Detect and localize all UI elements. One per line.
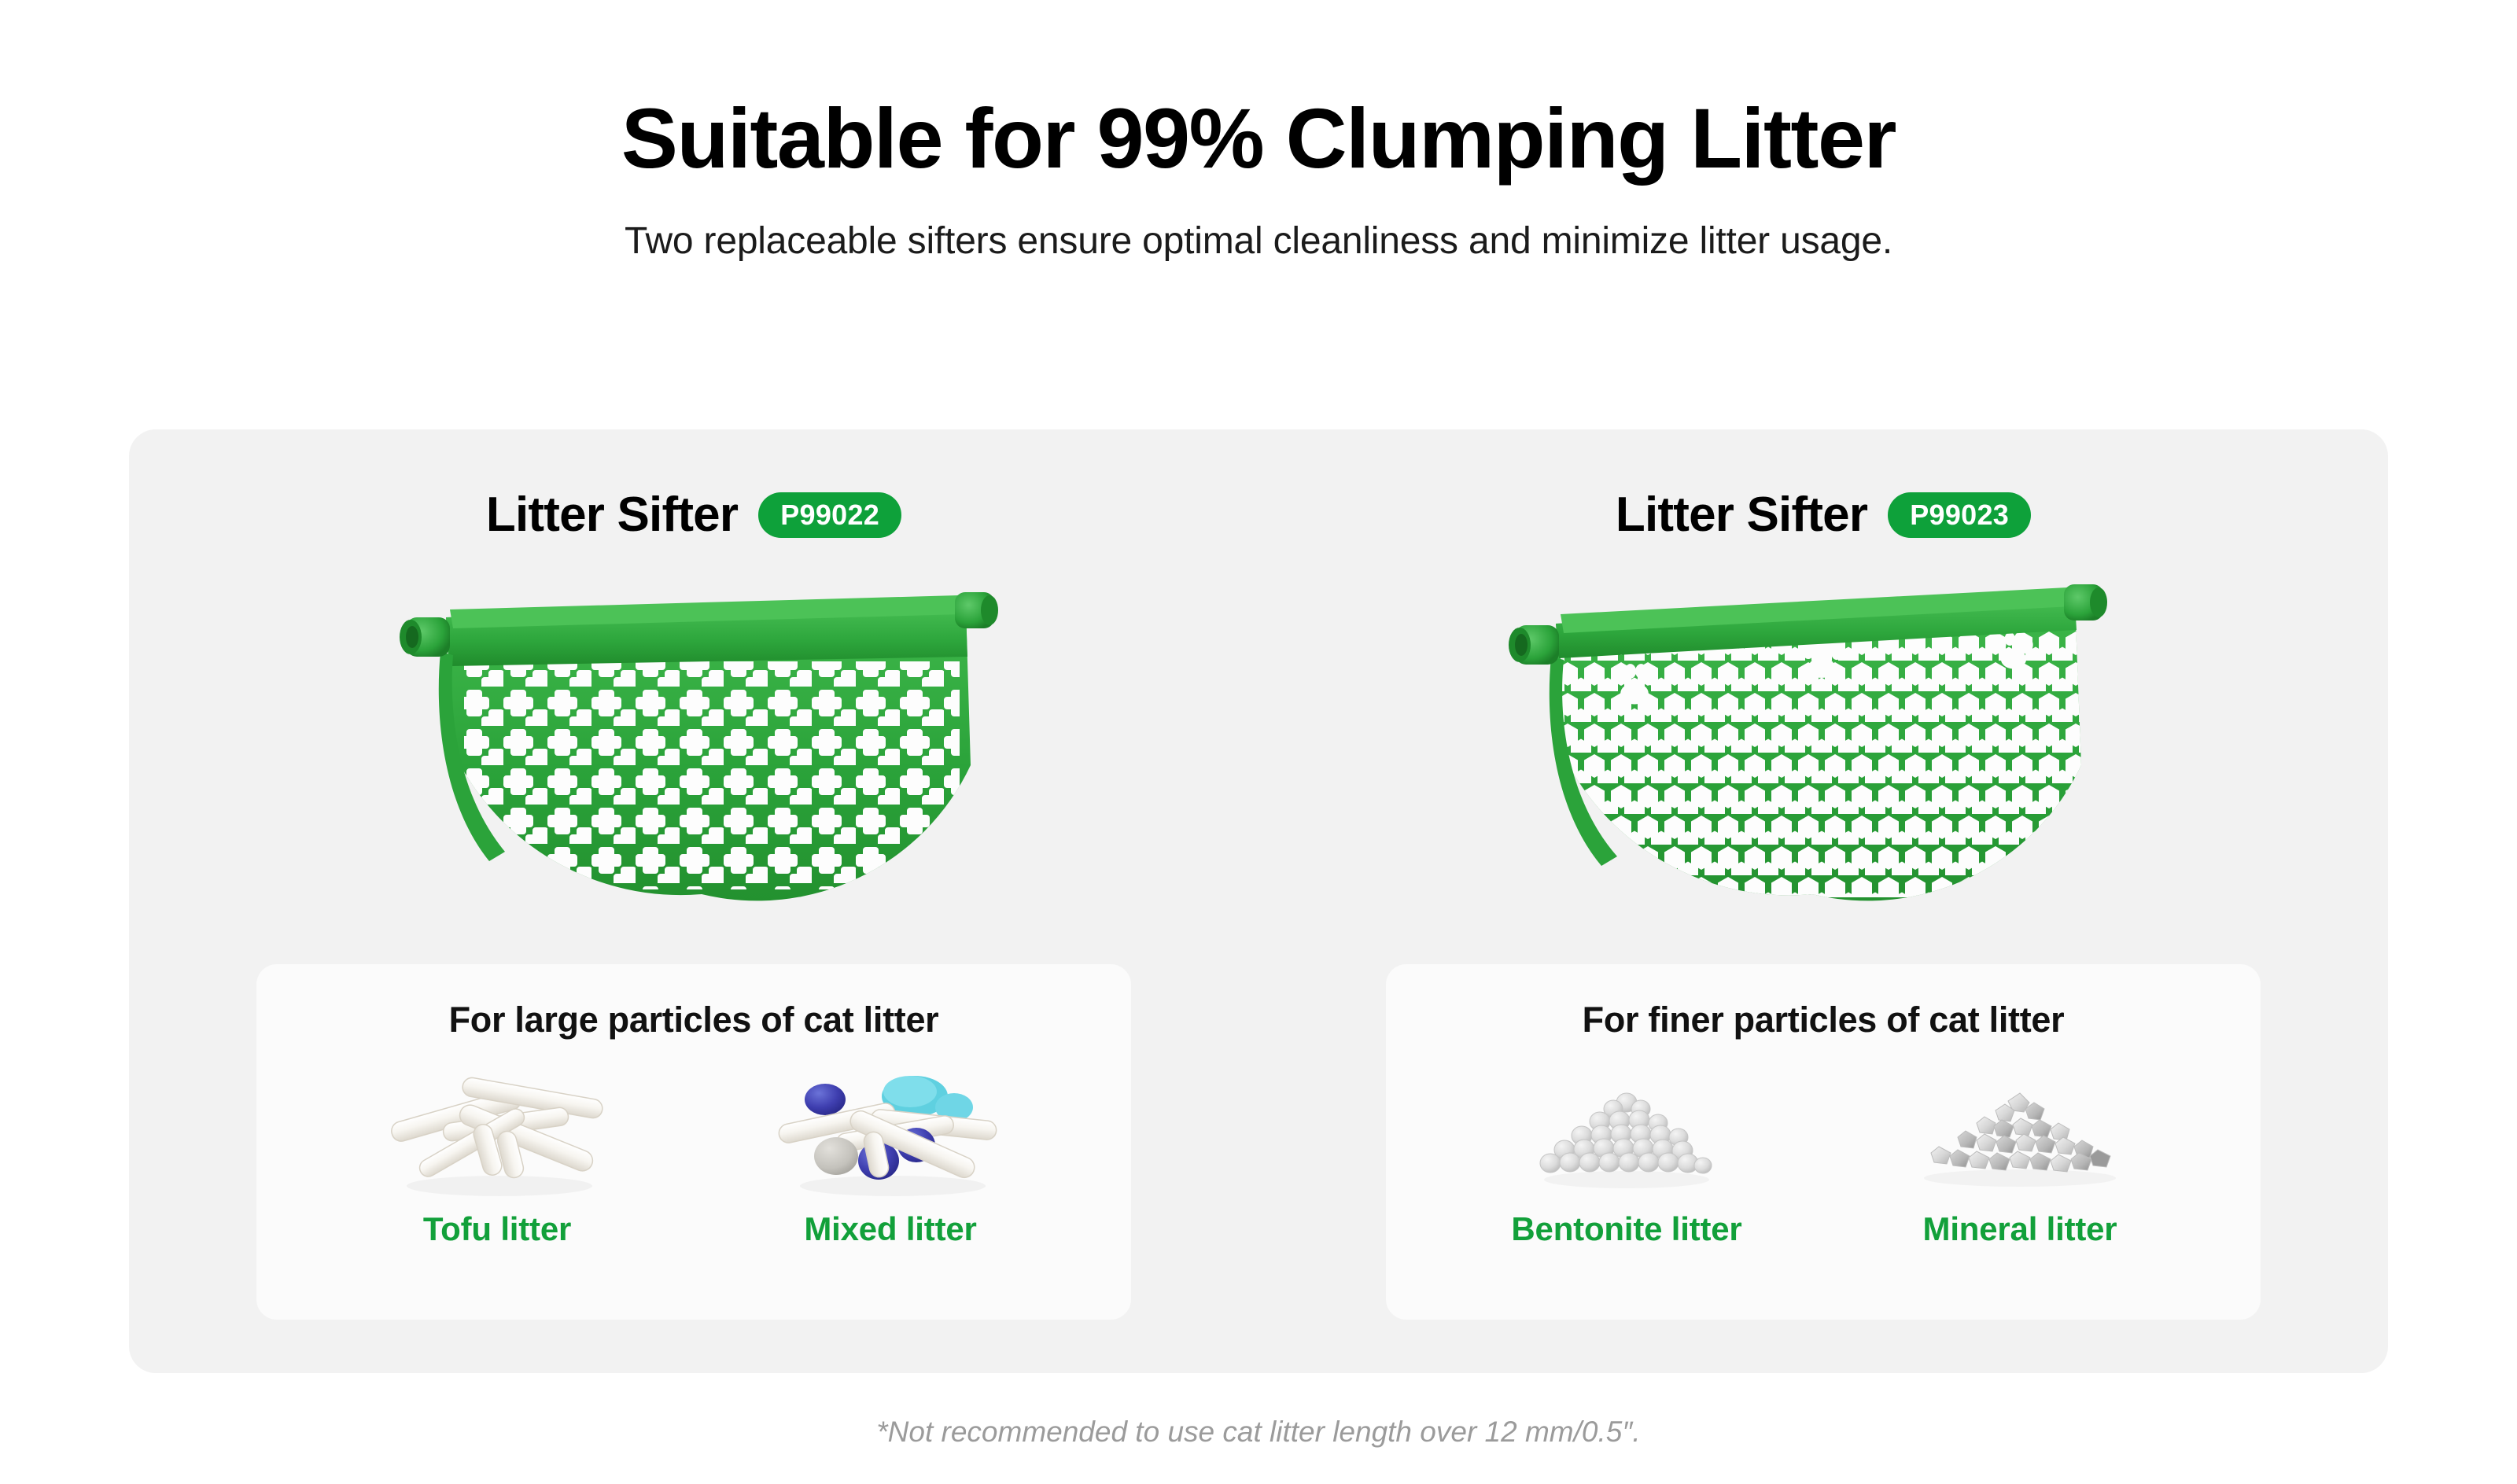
column-heading-right: Litter Sifter P99023 [1616,487,2031,543]
column-title-left: Litter Sifter [486,487,738,543]
litter-sifter-cross-mesh-icon [363,565,1024,911]
comparison-panel: Litter Sifter P99022 [129,429,2388,1373]
litter-label-bentonite: Bentonite litter [1511,1210,1741,1248]
litter-item-bentonite: Bentonite litter [1461,1055,1792,1248]
infographic-page: Suitable for 99% Clumping Litter Two rep… [0,0,2517,1484]
pivot-hub-right [2064,584,2107,620]
card-title-left: For large particles of cat litter [256,1000,1131,1040]
litter-label-tofu: Tofu litter [423,1210,571,1248]
page-title: Suitable for 99% Clumping Litter [0,93,2517,185]
litter-label-mineral: Mineral litter [1923,1210,2117,1248]
pivot-hub-right [955,592,998,628]
sifter-column-p99022: Litter Sifter P99022 [129,429,1258,1373]
litter-item-mineral: Mineral litter [1855,1055,2185,1248]
litter-item-mixed: Mixed litter [725,1055,1056,1248]
pivot-hub-left [1509,625,1559,665]
column-heading-left: Litter Sifter P99022 [486,487,901,543]
litter-list-right: Bentonite litter [1386,1055,2261,1248]
footnote: *Not recommended to use cat litter lengt… [0,1416,2517,1449]
page-header: Suitable for 99% Clumping Litter Two rep… [0,93,2517,263]
mixed-litter-sticks-and-granules-icon [757,1055,1024,1204]
litter-item-tofu: Tofu litter [332,1055,662,1248]
model-badge-p99023[interactable]: P99023 [1888,492,2031,538]
pivot-hub-left [400,617,450,657]
page-subtitle: Two replaceable sifters ensure optimal c… [0,219,2517,263]
bentonite-litter-pile-icon [1493,1055,1760,1204]
columns-container: Litter Sifter P99022 [129,429,2388,1373]
litter-label-mixed: Mixed litter [804,1210,976,1248]
mineral-litter-pile-icon [1886,1055,2154,1204]
litter-list-left: Tofu litter [256,1055,1131,1248]
litter-card-large-particles: For large particles of cat litter [256,964,1131,1320]
sifter-column-p99023: Litter Sifter P99023 [1258,429,2388,1373]
model-badge-p99022[interactable]: P99022 [758,492,901,538]
column-title-right: Litter Sifter [1616,487,1867,543]
litter-card-finer-particles: For finer particles of cat litter [1386,964,2261,1320]
tofu-litter-sticks-icon [363,1055,631,1204]
card-title-right: For finer particles of cat litter [1386,1000,2261,1040]
litter-sifter-honeycomb-mesh-icon [1493,565,2154,911]
